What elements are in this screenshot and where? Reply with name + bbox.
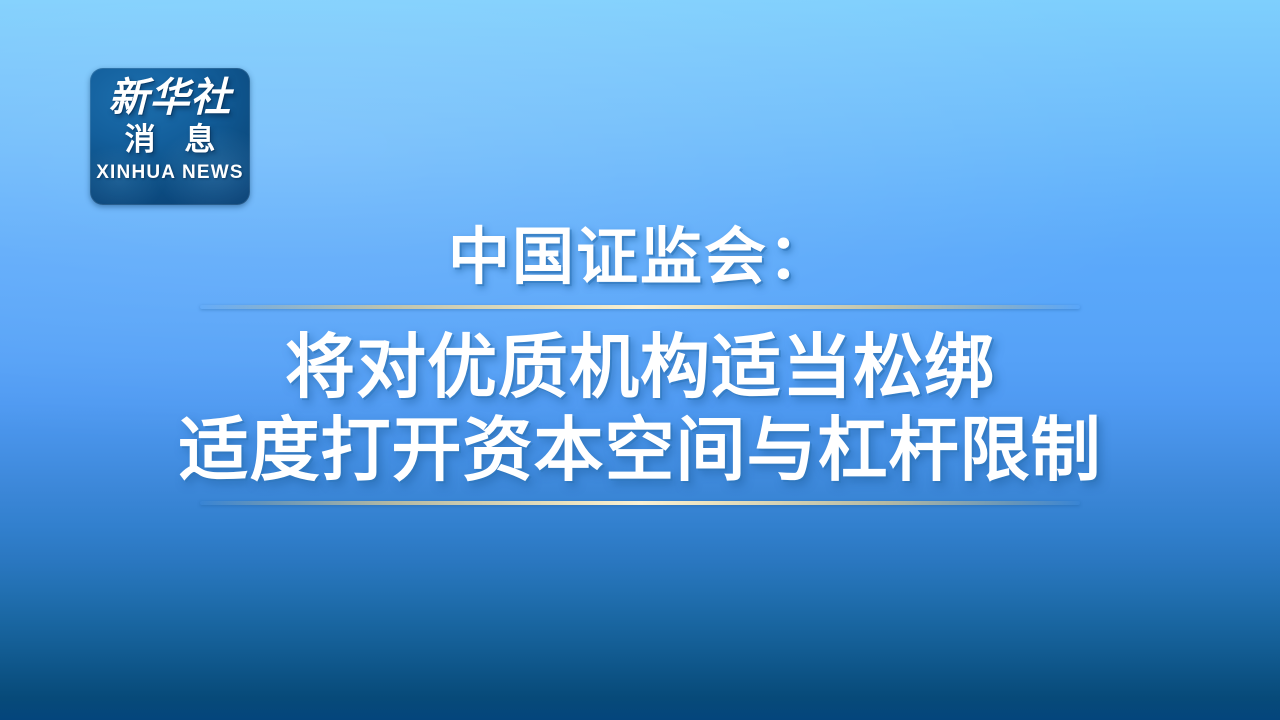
gold-divider-top [200, 305, 1080, 309]
gold-divider-bottom [200, 501, 1080, 505]
headline-block: 中国证监会： 将对优质机构适当松绑 适度打开资本空间与杠杆限制 [0, 224, 1280, 505]
headline-lead: 中国证监会： [448, 224, 832, 291]
headline-body-line-2: 适度打开资本空间与杠杆限制 [179, 410, 1102, 491]
logo-english-text: XINHUA NEWS [96, 162, 244, 184]
headline-body-line-1: 将对优质机构适当松绑 [285, 327, 995, 408]
xinhua-news-logo: 新华社 消 息 XINHUA NEWS [90, 68, 250, 205]
news-card-graphic: 新华社 消 息 XINHUA NEWS 中国证监会： 将对优质机构适当松绑 适度… [0, 0, 1280, 720]
logo-secondary-text: 消 息 [116, 123, 225, 157]
logo-primary-text: 新华社 [109, 76, 232, 121]
